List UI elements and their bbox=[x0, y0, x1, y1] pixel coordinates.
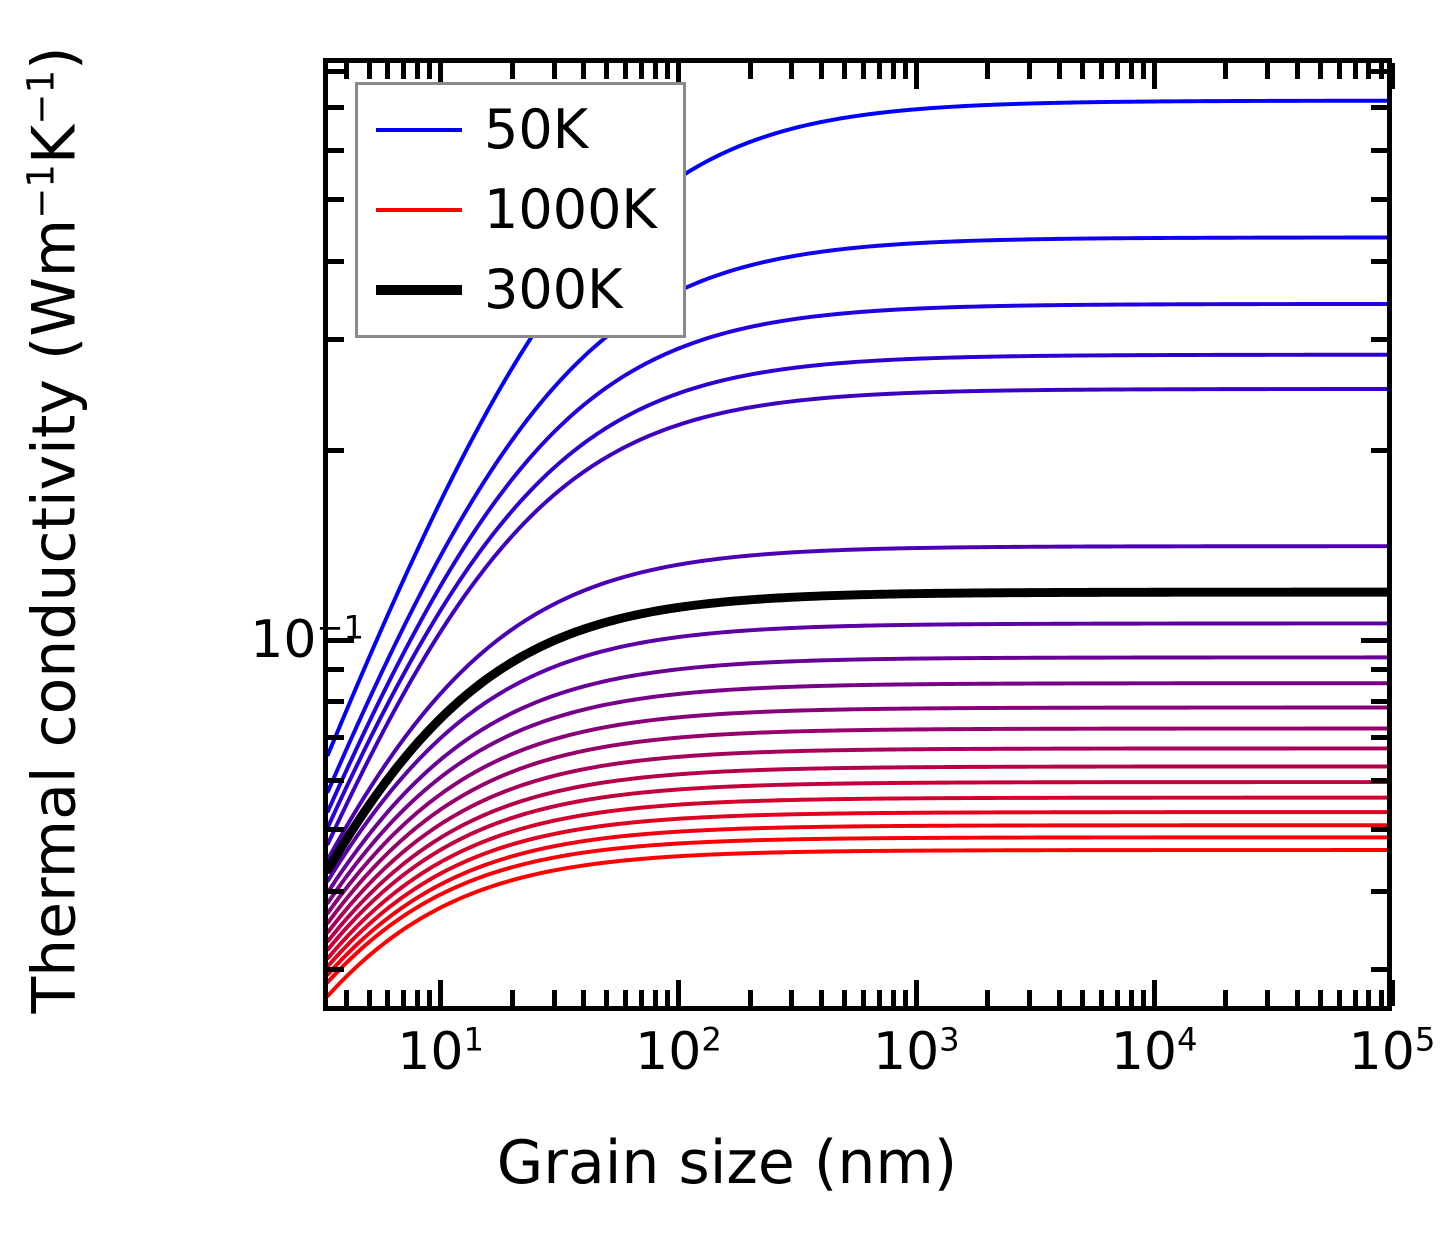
curve-500K bbox=[328, 683, 1387, 902]
x-tick-minor-700 bbox=[877, 990, 882, 1006]
x-tick-top-minor-50 bbox=[604, 63, 609, 79]
x-axis-title: Grain size (nm) bbox=[0, 1128, 1454, 1198]
x-tick-minor-4000 bbox=[1057, 990, 1062, 1006]
y-tick-mantissa: 10 bbox=[250, 610, 316, 670]
curve-800K bbox=[328, 798, 1387, 958]
legend-label-1000K: 1000K bbox=[484, 183, 657, 237]
x-tick-top-minor-60000 bbox=[1337, 63, 1342, 79]
x-tick-top-minor-4000 bbox=[1057, 63, 1062, 79]
x-tick-minor-40000 bbox=[1295, 990, 1300, 1006]
x-tick-minor-2000 bbox=[985, 990, 990, 1006]
y-tick-label-0.1: 10−1 bbox=[250, 614, 364, 666]
curve-550K bbox=[328, 708, 1387, 913]
legend-entry-50K[interactable]: 50K bbox=[376, 103, 657, 157]
x-tick-top-minor-900 bbox=[903, 63, 908, 79]
curve-250K bbox=[328, 389, 1387, 844]
y-axis-title-container: Thermal conductivity (Wm−1K−1) bbox=[0, 0, 110, 1060]
legend-entry-300K[interactable]: 300K bbox=[376, 263, 657, 317]
y-tick-minor-0.7000000000000001 bbox=[328, 105, 344, 110]
figure-canvas: Thermal conductivity (Wm−1K−1) 101102103… bbox=[0, 0, 1454, 1254]
x-tick-minor-500 bbox=[842, 990, 847, 1006]
x-tick-major-1000 bbox=[914, 980, 919, 1006]
x-tick-major-100 bbox=[676, 980, 681, 1006]
curve-900K bbox=[328, 825, 1387, 974]
x-tick-minor-7000 bbox=[1115, 990, 1120, 1006]
x-tick-major-10 bbox=[438, 980, 443, 1006]
y-tick-right-minor-0.2 bbox=[1371, 448, 1387, 453]
x-tick-label-1000: 103 bbox=[873, 1026, 960, 1078]
x-tick-minor-50 bbox=[604, 990, 609, 1006]
x-tick-minor-9 bbox=[427, 990, 432, 1006]
y-axis-title-close: ) bbox=[20, 46, 90, 69]
x-tick-top-minor-30000 bbox=[1265, 63, 1270, 79]
x-tick-top-minor-2000 bbox=[985, 63, 990, 79]
legend-label-300K: 300K bbox=[484, 263, 622, 317]
x-tick-top-minor-9000 bbox=[1141, 63, 1146, 79]
legend-line-swatch-1000K bbox=[376, 208, 462, 212]
x-tick-top-minor-30 bbox=[552, 63, 557, 79]
x-tick-top-minor-40000 bbox=[1295, 63, 1300, 79]
x-tick-mantissa: 10 bbox=[635, 1022, 701, 1082]
x-tick-label-10: 101 bbox=[397, 1026, 484, 1078]
x-tick-minor-9000 bbox=[1141, 990, 1146, 1006]
x-tick-minor-7 bbox=[401, 990, 406, 1006]
y-tick-right-minor-0.07 bbox=[1371, 735, 1387, 740]
y-tick-minor-0.2 bbox=[328, 448, 344, 453]
x-tick-minor-40 bbox=[581, 990, 586, 1006]
x-tick-top-minor-6 bbox=[385, 63, 390, 79]
x-tick-top-minor-50000 bbox=[1318, 63, 1323, 79]
x-tick-minor-200 bbox=[748, 990, 753, 1006]
x-tick-top-minor-400 bbox=[819, 63, 824, 79]
y-tick-right-minor-0.04 bbox=[1371, 889, 1387, 894]
curve-950K bbox=[328, 837, 1387, 982]
x-tick-top-minor-6000 bbox=[1099, 63, 1104, 79]
x-tick-minor-30000 bbox=[1265, 990, 1270, 1006]
x-tick-top-minor-3000 bbox=[1027, 63, 1032, 79]
y-tick-minor-0.30000000000000004 bbox=[328, 337, 344, 342]
x-tick-minor-900 bbox=[903, 990, 908, 1006]
x-tick-top-major-1000 bbox=[914, 63, 919, 89]
x-tick-top-minor-70000 bbox=[1353, 63, 1358, 79]
x-tick-label-10000: 104 bbox=[1111, 1026, 1198, 1078]
x-tick-top-minor-200 bbox=[748, 63, 753, 79]
y-tick-minor-0.8 bbox=[328, 69, 344, 74]
y-tick-minor-0.03 bbox=[328, 967, 344, 972]
legend-line-swatch-50K bbox=[376, 128, 462, 132]
x-tick-exponent: 5 bbox=[1415, 1021, 1436, 1059]
x-tick-top-minor-500 bbox=[842, 63, 847, 79]
y-tick-right-minor-0.09 bbox=[1371, 667, 1387, 672]
x-tick-minor-90 bbox=[665, 990, 670, 1006]
x-tick-minor-60 bbox=[623, 990, 628, 1006]
x-tick-exponent: 2 bbox=[701, 1021, 722, 1059]
x-tick-major-100000 bbox=[1390, 980, 1395, 1006]
x-tick-top-minor-700 bbox=[877, 63, 882, 79]
x-tick-minor-8 bbox=[415, 990, 420, 1006]
x-tick-minor-8000 bbox=[1129, 990, 1134, 1006]
y-tick-minor-0.07 bbox=[328, 735, 344, 740]
x-tick-minor-20000 bbox=[1223, 990, 1228, 1006]
curve-150K bbox=[328, 304, 1387, 811]
x-tick-top-minor-40 bbox=[581, 63, 586, 79]
x-tick-minor-6000 bbox=[1099, 990, 1104, 1006]
x-tick-top-minor-5 bbox=[367, 63, 372, 79]
x-tick-exponent: 1 bbox=[464, 1021, 485, 1059]
x-tick-top-minor-5000 bbox=[1080, 63, 1085, 79]
x-tick-top-minor-7000 bbox=[1115, 63, 1120, 79]
x-tick-minor-30 bbox=[552, 990, 557, 1006]
y-tick-minor-0.08 bbox=[328, 699, 344, 704]
x-tick-top-major-100000 bbox=[1390, 63, 1395, 89]
y-axis-title-text: Thermal conductivity (Wm bbox=[20, 219, 90, 1014]
x-tick-top-minor-800 bbox=[891, 63, 896, 79]
x-tick-top-minor-20000 bbox=[1223, 63, 1228, 79]
y-tick-minor-0.09 bbox=[328, 667, 344, 672]
x-tick-minor-4 bbox=[344, 990, 349, 1006]
x-tick-top-minor-600 bbox=[861, 63, 866, 79]
x-tick-minor-50000 bbox=[1318, 990, 1323, 1006]
legend-entry-1000K[interactable]: 1000K bbox=[376, 183, 657, 237]
x-tick-top-minor-80 bbox=[653, 63, 658, 79]
x-tick-minor-300 bbox=[789, 990, 794, 1006]
y-tick-minor-0.04 bbox=[328, 889, 344, 894]
x-tick-minor-80000 bbox=[1366, 990, 1371, 1006]
legend-label-50K: 50K bbox=[484, 103, 588, 157]
y-axis-title-mid: K bbox=[20, 125, 90, 164]
x-tick-top-minor-20 bbox=[510, 63, 515, 79]
x-tick-minor-800 bbox=[891, 990, 896, 1006]
y-tick-minor-0.5 bbox=[328, 197, 344, 202]
y-tick-minor-0.4 bbox=[328, 259, 344, 264]
x-tick-minor-6 bbox=[385, 990, 390, 1006]
y-tick-right-minor-0.05 bbox=[1371, 827, 1387, 832]
y-tick-right-minor-0.06 bbox=[1371, 778, 1387, 783]
x-tick-minor-5 bbox=[367, 990, 372, 1006]
x-tick-major-10000 bbox=[1152, 980, 1157, 1006]
y-tick-right-minor-0.7000000000000001 bbox=[1371, 105, 1387, 110]
x-tick-mantissa: 10 bbox=[1111, 1022, 1177, 1082]
x-tick-top-minor-7 bbox=[401, 63, 406, 79]
x-tick-top-minor-70 bbox=[639, 63, 644, 79]
x-tick-minor-70 bbox=[639, 990, 644, 1006]
curve-450K bbox=[328, 657, 1387, 892]
y-axis-title-exp-2: −1 bbox=[19, 70, 63, 125]
x-tick-minor-60000 bbox=[1337, 990, 1342, 1006]
legend[interactable]: 50K1000K300K bbox=[355, 82, 686, 338]
x-tick-minor-70000 bbox=[1353, 990, 1358, 1006]
x-tick-label-100: 102 bbox=[635, 1026, 722, 1078]
y-axis-title: Thermal conductivity (Wm−1K−1) bbox=[20, 46, 90, 1013]
y-tick-exponent: −1 bbox=[316, 609, 364, 647]
x-tick-top-minor-90 bbox=[665, 63, 670, 79]
y-tick-right-minor-0.6000000000000001 bbox=[1371, 148, 1387, 153]
y-tick-minor-0.06 bbox=[328, 778, 344, 783]
x-tick-top-minor-8 bbox=[415, 63, 420, 79]
x-tick-minor-90000 bbox=[1379, 990, 1384, 1006]
x-tick-top-minor-60 bbox=[623, 63, 628, 79]
y-axis-title-exp-1: −1 bbox=[19, 164, 63, 219]
x-tick-minor-80 bbox=[653, 990, 658, 1006]
y-tick-minor-0.05 bbox=[328, 827, 344, 832]
x-tick-minor-600 bbox=[861, 990, 866, 1006]
x-tick-top-minor-4 bbox=[344, 63, 349, 79]
x-tick-top-minor-9 bbox=[427, 63, 432, 79]
x-tick-exponent: 3 bbox=[939, 1021, 960, 1059]
x-tick-mantissa: 10 bbox=[397, 1022, 463, 1082]
y-tick-right-minor-0.8 bbox=[1371, 69, 1387, 74]
y-tick-right-minor-0.4 bbox=[1371, 259, 1387, 264]
x-tick-top-minor-8000 bbox=[1129, 63, 1134, 79]
x-tick-exponent: 4 bbox=[1177, 1021, 1198, 1059]
y-tick-right-minor-0.08 bbox=[1371, 699, 1387, 704]
y-tick-right-minor-0.5 bbox=[1371, 197, 1387, 202]
y-tick-right-major-0.1 bbox=[1361, 638, 1387, 643]
x-tick-top-major-10000 bbox=[1152, 63, 1157, 89]
x-tick-minor-20 bbox=[510, 990, 515, 1006]
legend-line-swatch-300K bbox=[376, 285, 462, 295]
y-tick-minor-0.6000000000000001 bbox=[328, 148, 344, 153]
x-tick-minor-400 bbox=[819, 990, 824, 1006]
y-tick-right-minor-0.30000000000000004 bbox=[1371, 337, 1387, 342]
x-tick-label-100000: 105 bbox=[1349, 1026, 1436, 1078]
x-tick-top-minor-300 bbox=[789, 63, 794, 79]
y-tick-right-minor-0.03 bbox=[1371, 967, 1387, 972]
x-tick-mantissa: 10 bbox=[873, 1022, 939, 1082]
x-tick-mantissa: 10 bbox=[1349, 1022, 1415, 1082]
curve-1000K bbox=[328, 850, 1387, 996]
x-tick-minor-5000 bbox=[1080, 990, 1085, 1006]
x-tick-minor-3000 bbox=[1027, 990, 1032, 1006]
